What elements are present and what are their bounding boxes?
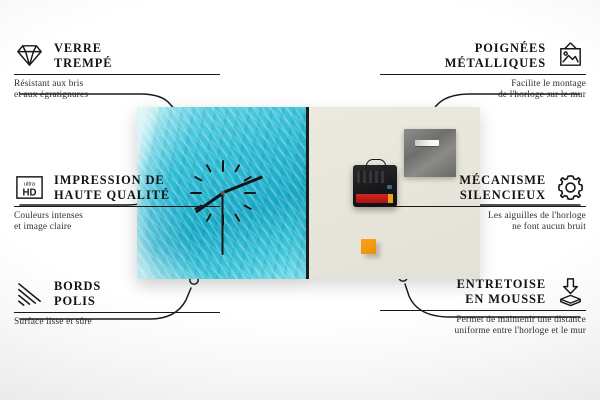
callout-header: ultra HD IMPRESSION DE HAUTE QUALITÉ [14,172,242,203]
callout-divider [380,310,586,311]
callout-header: POIGNÉES MÉTALLIQUES [358,40,586,71]
callout-subtitle-line2: et image claire [14,222,242,233]
callout-title: VERRE TREMPÉ [54,41,112,71]
infographic-canvas: VERRE TREMPÉ Résistant aux bris et aux é… [0,0,600,400]
callout-subtitle-line2: de l'horloge sur le mur [358,90,586,101]
callout-bords-polis: BORDS POLIS Surface lisse et sûre [14,278,242,328]
callout-divider [380,74,586,75]
callout-subtitle-line1: Facilite le montage [358,79,586,90]
callout-subtitle-line1: Les aiguilles de l'horloge [358,211,586,222]
callout-title: POIGNÉES MÉTALLIQUES [445,41,546,71]
callout-subtitle-line1: Couleurs intenses [14,211,242,222]
foam-spacer-icon [555,276,586,307]
diamond-icon [14,40,45,71]
picture-hanger-icon [555,40,586,71]
callout-subtitle-line2: et aux égratignures [14,90,242,101]
foam-spacer [361,239,376,254]
metal-hanger-bracket [404,129,456,177]
callout-subtitle-line2: ne font aucun bruit [358,222,586,233]
mechanism-hook [366,159,386,169]
callout-divider [14,312,220,313]
bracket-slot [415,140,439,146]
ultra-hd-icon: ultra HD [14,172,45,203]
callout-header: ENTRETOISE EN MOUSSE [358,276,586,307]
polished-edges-icon [14,278,45,309]
callout-divider [14,206,220,207]
callout-entretoise-en-mousse: ENTRETOISE EN MOUSSE Permet de maintenir… [358,276,586,338]
callout-header: MÉCANISME SILENCIEUX [358,172,586,203]
callout-subtitle-line1: Résistant aux bris [14,79,242,90]
callout-header: VERRE TREMPÉ [14,40,242,71]
callout-divider [14,74,220,75]
callout-title: BORDS POLIS [54,279,101,309]
callout-subtitle-line1: Permet de maintenir une distance [358,315,586,326]
callout-title: ENTRETOISE EN MOUSSE [457,277,546,307]
callout-title: MÉCANISME SILENCIEUX [459,173,546,203]
callout-divider [380,206,586,207]
callout-verre-trempe: VERRE TREMPÉ Résistant aux bris et aux é… [14,40,242,102]
callout-subtitle-line1: Surface lisse et sûre [14,317,242,328]
callout-header: BORDS POLIS [14,278,242,309]
gear-icon [555,172,586,203]
callout-mecanisme-silencieux: MÉCANISME SILENCIEUX Les aiguilles de l'… [358,172,586,234]
callout-title: IMPRESSION DE HAUTE QUALITÉ [54,173,170,203]
callout-poignees-metalliques: POIGNÉES MÉTALLIQUES Facilite le montage… [358,40,586,102]
svg-text:HD: HD [23,187,37,198]
callout-subtitle-line2: uniforme entre l'horloge et le mur [358,326,586,337]
callout-impression-haute-qualite: ultra HD IMPRESSION DE HAUTE QUALITÉ Cou… [14,172,242,234]
